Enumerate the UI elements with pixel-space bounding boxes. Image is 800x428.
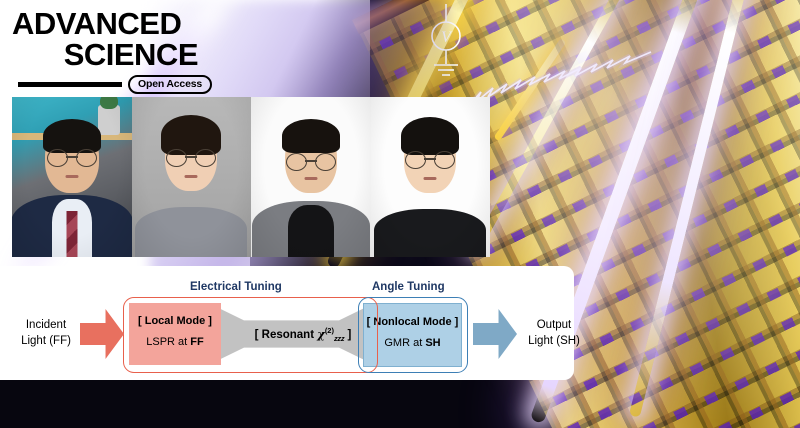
logo-rule [18, 82, 122, 87]
group-label-angle-tuning: Angle Tuning [372, 281, 445, 293]
photo-vignette [132, 97, 252, 257]
photo-vignette [371, 97, 491, 257]
logo-line-science: SCIENCE [12, 39, 198, 70]
photo-vignette [12, 97, 132, 257]
output-light-label: Output Light (SH) [521, 318, 587, 349]
incident-light-line2: Light (FF) [14, 334, 78, 350]
incident-light-line1: Incident [14, 318, 78, 334]
author-photo-3 [251, 97, 371, 257]
logo-line-advanced: ADVANCED [12, 8, 232, 39]
angle-tuning-group-outline [358, 297, 468, 373]
open-access-badge: Open Access [128, 75, 212, 94]
cover-artwork-canvas: V ADVANCED SCIENCE Open Access [0, 0, 800, 428]
author-photo-strip [12, 97, 490, 257]
incident-light-label: Incident Light (FF) [14, 318, 78, 349]
electrical-tuning-group-outline [123, 297, 378, 373]
author-photo-2 [132, 97, 252, 257]
group-label-electrical-tuning: Electrical Tuning [190, 281, 282, 293]
output-light-line1: Output [521, 318, 587, 334]
logo-bottom-row: Open Access [12, 75, 212, 94]
photo-vignette [251, 97, 371, 257]
output-light-line2: Light (SH) [521, 334, 587, 350]
journal-logo: ADVANCED SCIENCE Open Access [12, 8, 232, 88]
author-photo-4 [371, 97, 491, 257]
author-photo-1 [12, 97, 132, 257]
